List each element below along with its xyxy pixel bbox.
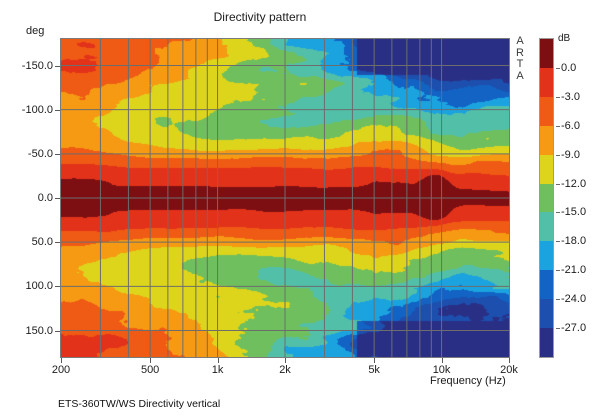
arta-watermark-letter: T [512, 59, 528, 71]
colorbar-tick-label: -27.0 [561, 322, 586, 334]
x-axis-title: Frequency (Hz) [430, 375, 506, 387]
x-axis-tick-label: 1k [212, 364, 224, 376]
heatmap-canvas [61, 39, 509, 357]
y-axis-tick [55, 154, 60, 155]
directivity-chart-page: Directivity pattern deg dB -150.0-100.0-… [0, 0, 600, 419]
x-axis-tick [374, 358, 375, 363]
x-axis-tick [61, 358, 62, 363]
y-axis-tick [55, 198, 60, 199]
colorbar-tick-label: 0.0 [561, 62, 576, 74]
colorbar-tick-label: -12.0 [561, 178, 586, 190]
y-axis-tick-label: -50.0 [28, 148, 53, 160]
x-axis-tick-label: 500 [141, 364, 159, 376]
colorbar-tick [556, 126, 560, 127]
x-axis-tick [442, 358, 443, 363]
x-axis-tick-label: 200 [52, 364, 70, 376]
y-axis-tick-label: 50.0 [32, 236, 53, 248]
colorbar-tick-label: -24.0 [561, 293, 586, 305]
colorbar-tick [556, 241, 560, 242]
colorbar-band [540, 184, 553, 213]
colorbar-tick [556, 299, 560, 300]
y-axis-tick [55, 331, 60, 332]
chart-title: Directivity pattern [0, 10, 520, 24]
y-axis-tick [55, 110, 60, 111]
x-axis-tick [285, 358, 286, 363]
colorbar-band [540, 212, 553, 241]
x-axis-tick-label: 5k [368, 364, 380, 376]
y-axis-tick-label: 0.0 [38, 192, 53, 204]
y-axis-tick-label: 100.0 [25, 280, 53, 292]
colorbar-tick [556, 68, 560, 69]
y-axis-tick-label: 150.0 [25, 325, 53, 337]
arta-watermark: ARTA [512, 36, 528, 82]
colorbar-band [540, 126, 553, 155]
colorbar-tick-label: -9.0 [561, 149, 580, 161]
colorbar-tick [556, 270, 560, 271]
colorbar-band [540, 68, 553, 97]
x-axis-tick-label: 2k [279, 364, 291, 376]
y-axis-tick [55, 66, 60, 67]
colorbar-band [540, 97, 553, 126]
colorbar-unit-label: dB [558, 33, 570, 44]
y-axis-tick [55, 286, 60, 287]
colorbar-tick [556, 155, 560, 156]
colorbar-band [540, 155, 553, 184]
colorbar-tick [556, 328, 560, 329]
colorbar-band [540, 299, 553, 328]
colorbar-tick-label: -6.0 [561, 120, 580, 132]
colorbar-band [540, 39, 553, 68]
y-axis-tick-label: -150.0 [22, 60, 53, 72]
colorbar-gradient [539, 38, 554, 358]
colorbar-band [540, 328, 553, 357]
colorbar-band [540, 241, 553, 270]
colorbar-tick [556, 184, 560, 185]
y-axis-tick [55, 242, 60, 243]
colorbar-band [540, 270, 553, 299]
colorbar-tick [556, 212, 560, 213]
colorbar-tick-label: -18.0 [561, 235, 586, 247]
heatmap-plot-area [60, 38, 510, 358]
arta-watermark-letter: A [512, 36, 528, 48]
x-axis-tick [150, 358, 151, 363]
colorbar-tick-label: -15.0 [561, 206, 586, 218]
colorbar-tick-label: -21.0 [561, 264, 586, 276]
y-axis-unit-label: deg [26, 25, 44, 37]
arta-watermark-letter: A [512, 71, 528, 83]
x-axis-tick [218, 358, 219, 363]
colorbar-tick-label: -3.0 [561, 91, 580, 103]
x-axis-tick [509, 358, 510, 363]
chart-caption: ETS-360TW/WS Directivity vertical [58, 398, 220, 410]
colorbar-tick [556, 97, 560, 98]
y-axis-tick-label: -100.0 [22, 104, 53, 116]
